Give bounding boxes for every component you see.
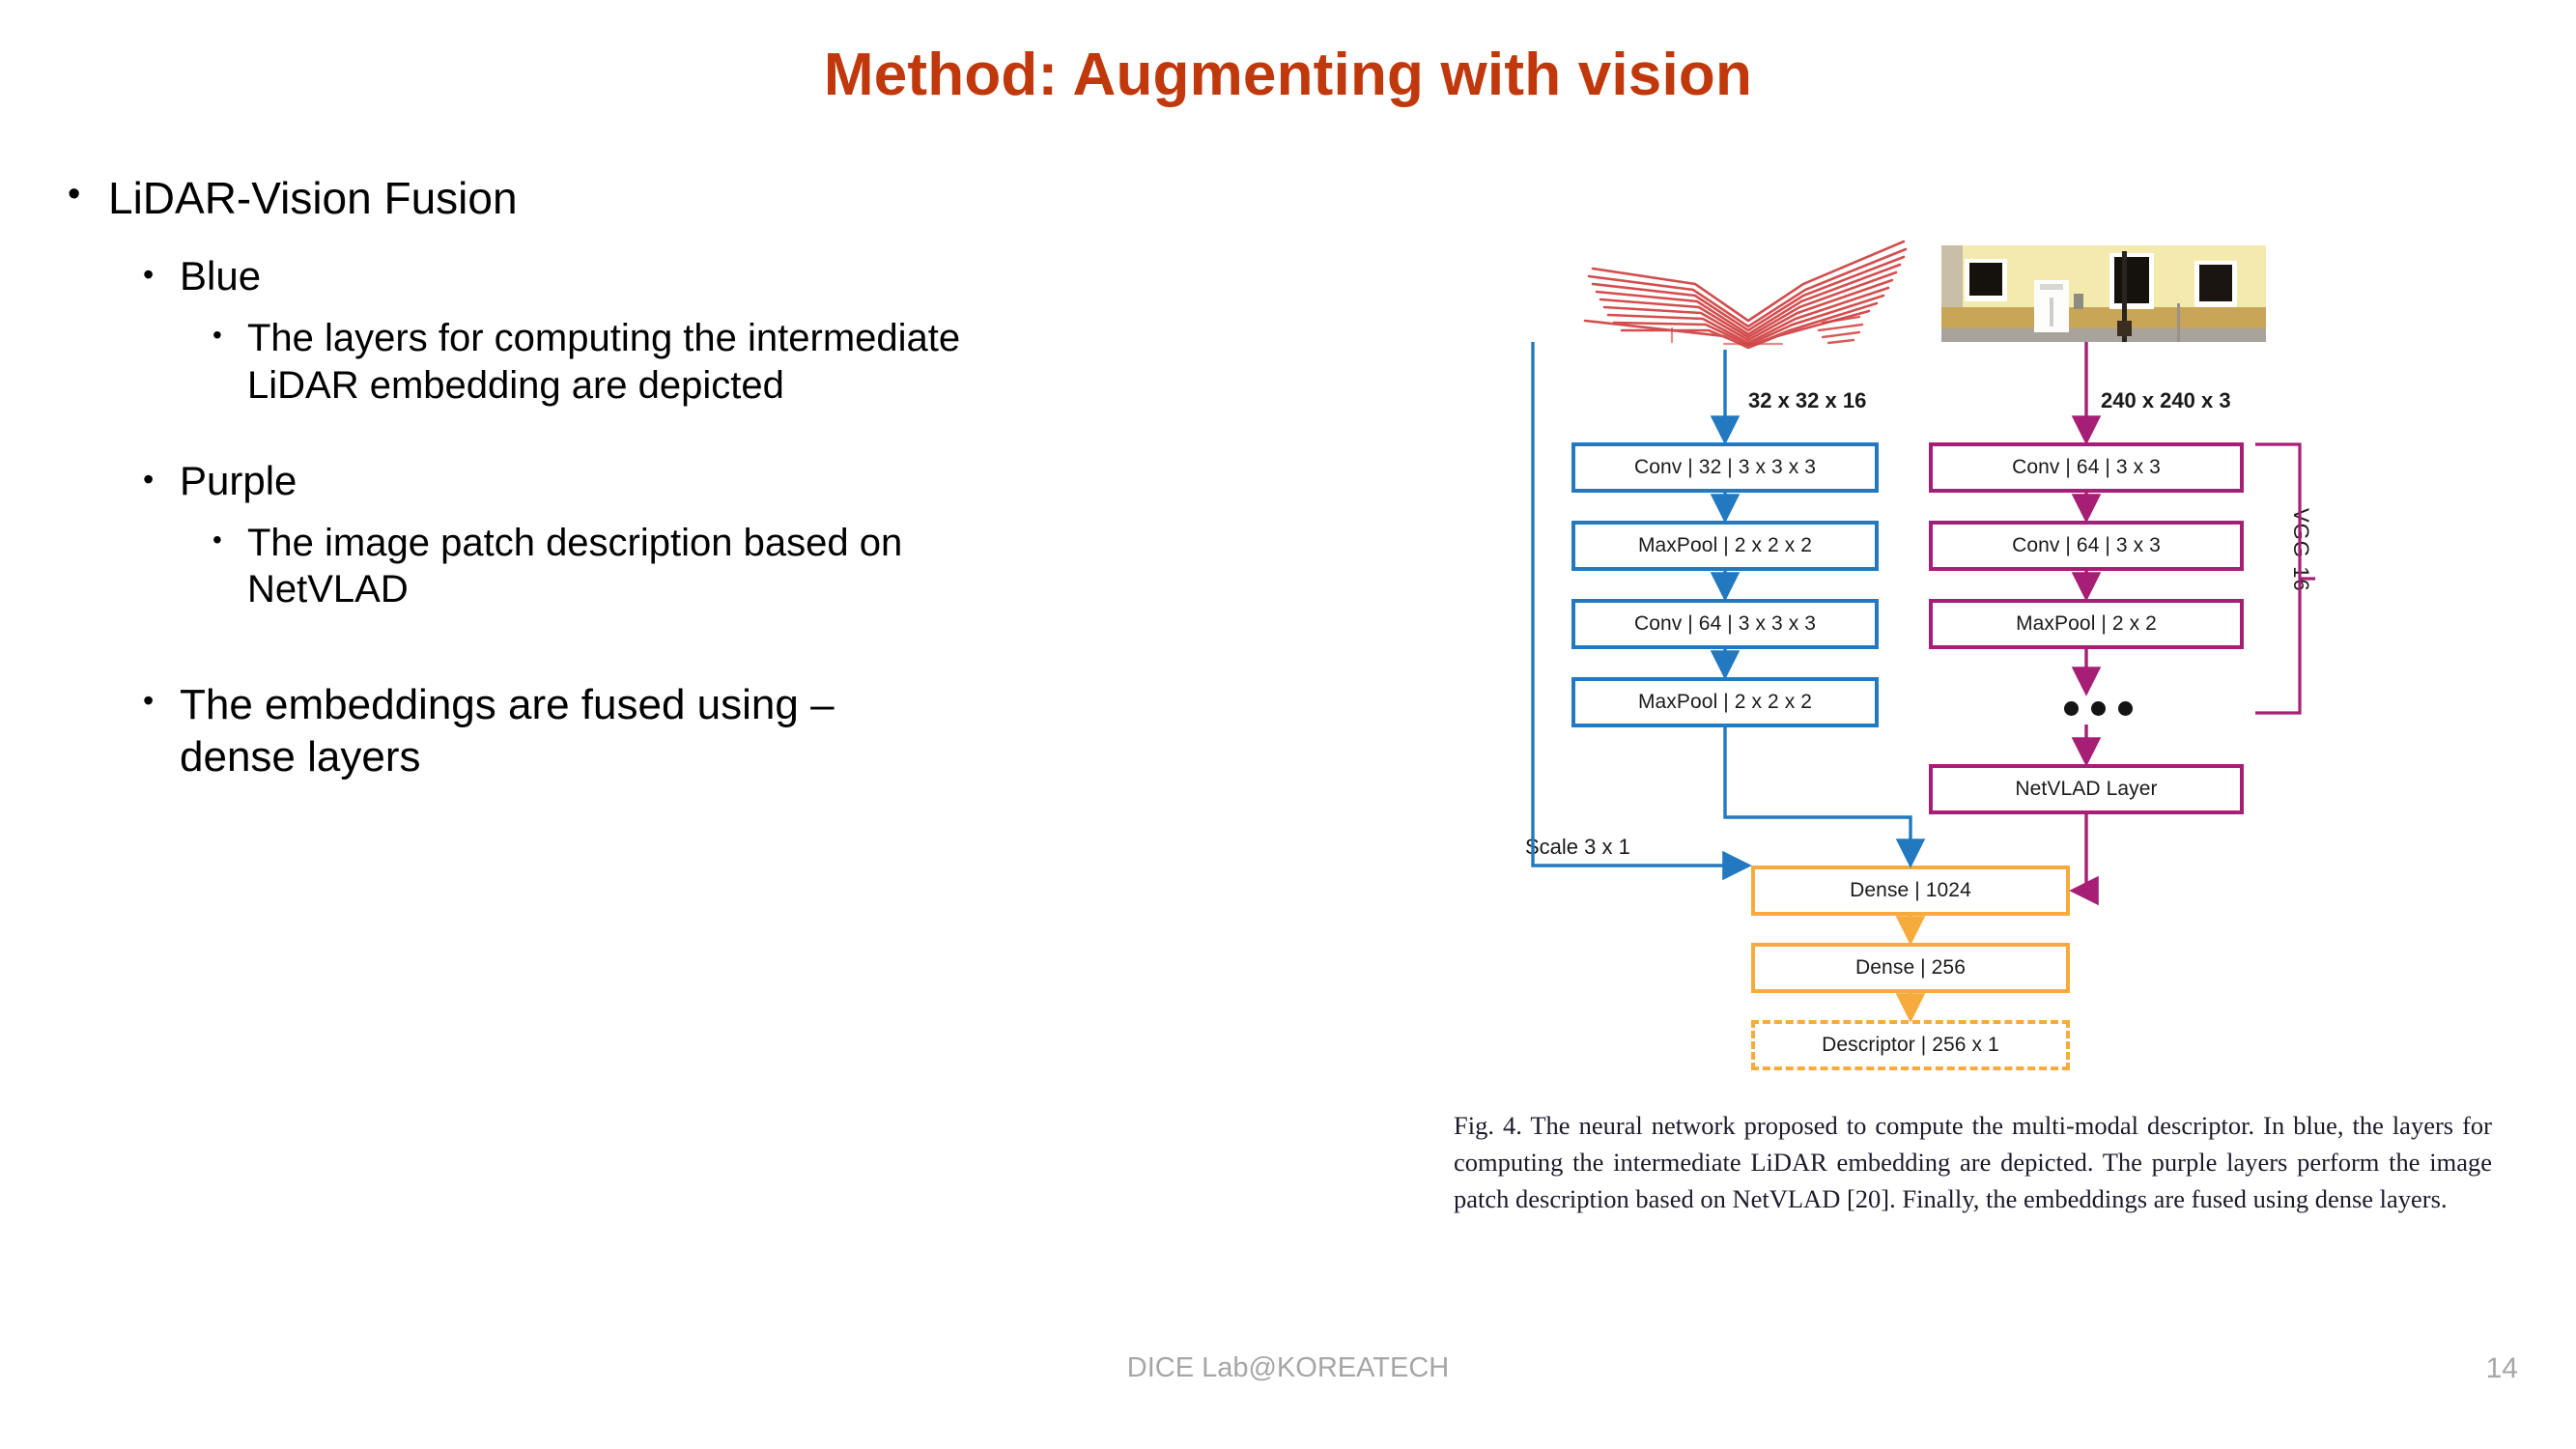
bullet-purple: • Purple <box>68 458 1439 504</box>
bullet-fusion: • The embeddings are fused using – dense… <box>68 679 1439 782</box>
figure-caption: Fig. 4. The neural network proposed to c… <box>1454 1107 2492 1217</box>
bullet-blue-detail: • The layers for computing the intermedi… <box>68 315 1439 410</box>
bullet-glyph-icon: • <box>212 520 247 554</box>
bullet-glyph-icon: • <box>143 458 180 495</box>
figure-diagram: 32 x 32 x 16 240 x 240 x 3 Conv | 32 | 3… <box>1521 228 2487 1097</box>
spacer <box>68 417 1439 458</box>
slide-canvas: Method: Augmenting with vision • LiDAR-V… <box>0 0 2576 1449</box>
bullet-glyph-icon: • <box>143 253 180 290</box>
bullet-blue: • Blue <box>68 253 1439 299</box>
bullet-glyph-icon: • <box>212 315 247 349</box>
slide-footer: DICE Lab@KOREATECH <box>0 1352 2576 1384</box>
network-architecture-figure: 32 x 32 x 16 240 x 240 x 3 Conv | 32 | 3… <box>1521 228 2487 1252</box>
bullet-lidar-vision-fusion: • LiDAR-Vision Fusion <box>68 172 1439 224</box>
bullet-text-line2: NetVLAD <box>247 568 409 611</box>
bullet-text-line1: The embeddings are fused using – <box>180 681 835 728</box>
bullet-text-line1: The layers for computing the intermediat… <box>247 317 960 359</box>
bullet-text: Blue <box>180 253 1439 299</box>
bullet-purple-detail: • The image patch description based on N… <box>68 520 1439 614</box>
bullet-text: Purple <box>180 458 1439 504</box>
spacer <box>68 621 1439 679</box>
connector-arrows <box>1521 228 2487 1097</box>
bullet-text: LiDAR-Vision Fusion <box>108 172 1439 224</box>
bullet-text-line1: The image patch description based on <box>247 522 902 564</box>
bullet-content: • LiDAR-Vision Fusion • Blue • The layer… <box>68 172 1439 783</box>
page-title: Method: Augmenting with vision <box>0 41 2576 109</box>
bullet-text: The image patch description based on Net… <box>247 520 1439 614</box>
bullet-text-line2: LiDAR embedding are depicted <box>247 364 784 407</box>
bullet-text: The layers for computing the intermediat… <box>247 315 1439 410</box>
page-number: 14 <box>2486 1352 2518 1385</box>
bullet-glyph-icon: • <box>68 172 108 213</box>
bullet-glyph-icon: • <box>143 679 180 716</box>
bullet-text-line2: dense layers <box>180 733 420 781</box>
bullet-text: The embeddings are fused using – dense l… <box>180 679 1439 782</box>
